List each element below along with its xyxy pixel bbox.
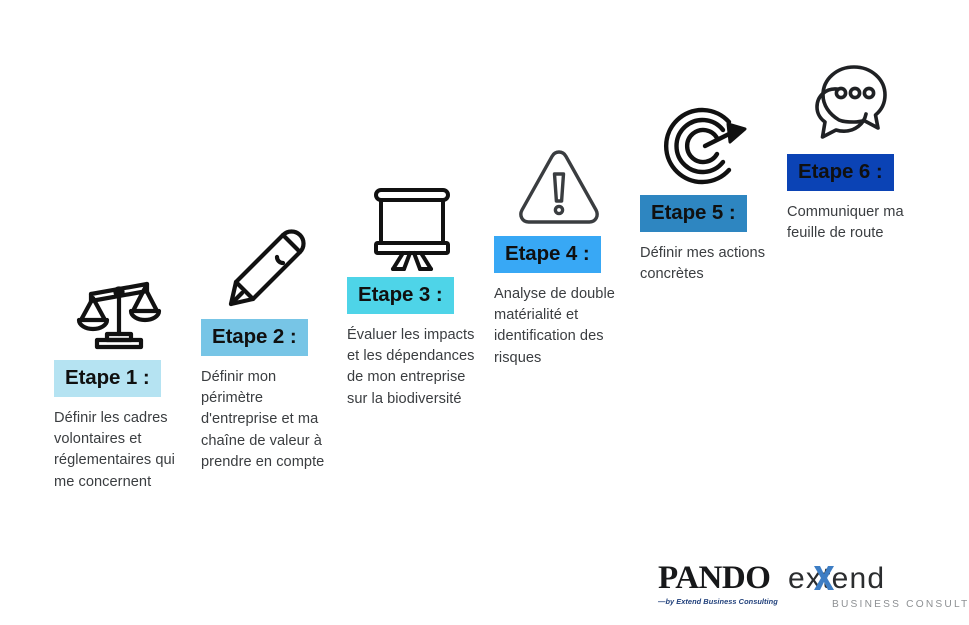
step-label-6: Etape 6 : (798, 160, 883, 183)
extend-logo: extend BUSINESS CONSULTING (788, 564, 969, 610)
step-card-4: Etape 4 : Analyse de double matérialité … (494, 236, 624, 369)
step-label-box-1: Etape 1 : (54, 360, 161, 397)
warning-triangle-icon (513, 144, 605, 230)
step-body-6: Communiquer ma feuille de route (787, 202, 915, 244)
step-body-4: Analyse de double matérialité et identif… (494, 284, 622, 369)
step-card-5: Etape 5 : Définir mes actions concrètes (640, 195, 770, 285)
step-label-3: Etape 3 : (358, 283, 443, 306)
step-body-3: Évaluer les impacts et les dépendances d… (347, 325, 475, 410)
footer-logos: PANDO —by Extend Business Consulting ext… (648, 556, 963, 618)
step-label-box-2: Etape 2 : (201, 319, 308, 356)
pencil-icon (220, 227, 312, 313)
pando-logo: PANDO —by Extend Business Consulting (658, 562, 778, 606)
step-label-box-4: Etape 4 : (494, 236, 601, 273)
step-body-5: Définir mes actions concrètes (640, 243, 768, 285)
presentation-board-icon (366, 185, 458, 271)
extend-logo-subtitle: BUSINESS CONSULTING (832, 599, 969, 610)
pando-logo-tagline: —by Extend Business Consulting (658, 597, 778, 606)
speech-bubbles-icon (806, 62, 898, 148)
step-card-2: Etape 2 : Définir mon périmètre d'entrep… (201, 319, 331, 473)
step-label-box-3: Etape 3 : (347, 277, 454, 314)
step-label-2: Etape 2 : (212, 325, 297, 348)
step-body-2: Définir mon périmètre d'entreprise et ma… (201, 367, 329, 473)
extend-x-mark-icon (810, 563, 838, 593)
pando-logo-name: PANDO (658, 562, 778, 595)
step-card-3: Etape 3 : Évaluer les impacts et les dép… (347, 277, 477, 410)
step-label-box-6: Etape 6 : (787, 154, 894, 191)
extend-logo-name: extend (788, 564, 969, 594)
step-body-1: Définir les cadres volontaires et réglem… (54, 408, 182, 493)
step-card-1: Etape 1 : Définir les cadres volontaires… (54, 360, 184, 493)
step-label-5: Etape 5 : (651, 201, 736, 224)
step-label-box-5: Etape 5 : (640, 195, 747, 232)
balance-scales-icon (73, 268, 165, 354)
target-arrow-icon (659, 103, 751, 189)
step-label-4: Etape 4 : (505, 242, 590, 265)
step-label-1: Etape 1 : (65, 366, 150, 389)
step-card-6: Etape 6 : Communiquer ma feuille de rout… (787, 154, 917, 244)
